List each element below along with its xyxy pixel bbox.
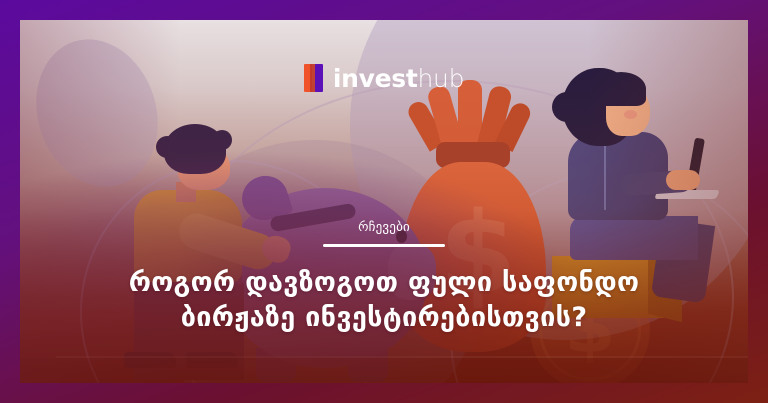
logo-bar-purple — [315, 64, 323, 92]
category-badge[interactable]: რჩევები — [20, 220, 748, 235]
page-title: როგორ დავზოგოთ ფული საფონდო ბირჟაზე ინვე… — [60, 266, 708, 335]
woman-cheek — [624, 110, 637, 119]
woman-hair-bun — [552, 92, 582, 122]
investhub-logo-mark-icon — [304, 64, 324, 92]
illustration-stage: $ $ — [20, 20, 748, 383]
wordmark-light: hub — [417, 64, 464, 93]
person-pushing-piggy-bank — [112, 124, 282, 374]
person-hair — [164, 124, 226, 174]
investhub-logo[interactable]: investhub — [20, 64, 748, 92]
floor-shade — [20, 358, 748, 383]
woman-with-laptop-illustration — [548, 66, 728, 286]
woman-sleeve-seam — [604, 136, 606, 210]
investhub-wordmark: investhub — [333, 66, 464, 91]
page-title-line-2: ბირჟაზე ინვესტირებისთვის? — [60, 301, 708, 336]
page-title-line-1: როგორ დავზოგოთ ფული საფონდო — [60, 266, 708, 301]
category-badge-group: რჩევები — [20, 220, 748, 247]
woman-hand — [666, 170, 700, 190]
wordmark-bold: invest — [333, 64, 418, 93]
badge-underline — [323, 244, 445, 247]
promo-banner: $ $ — [0, 0, 768, 403]
